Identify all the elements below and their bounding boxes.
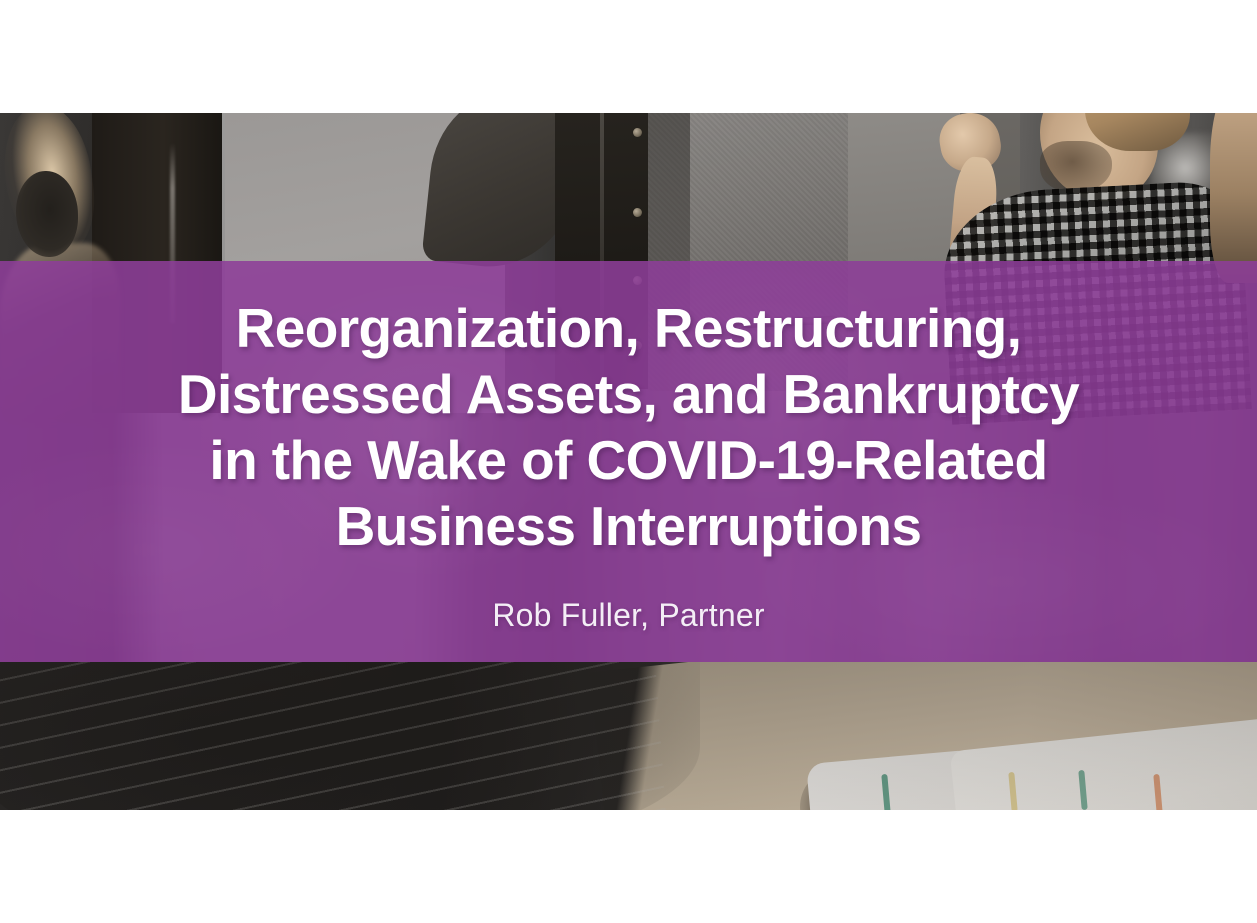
- photo-shirt-button: [633, 128, 642, 137]
- photo-shirt-button: [633, 208, 642, 217]
- photo-lower-grade: [0, 662, 1257, 810]
- title-slide: Reorganization, Restructuring, Distresse…: [0, 0, 1257, 923]
- page-title-line: Reorganization, Restructuring,: [178, 295, 1079, 361]
- photo-figure-left-head: [16, 171, 78, 257]
- photo-figure-far-right: [1210, 113, 1257, 283]
- presenter-name: Rob Fuller, Partner: [492, 595, 764, 635]
- page-title-line: Business Interruptions: [178, 493, 1079, 559]
- photo-lower-scene: [0, 662, 1257, 810]
- page-title: Reorganization, Restructuring, Distresse…: [178, 295, 1079, 559]
- page-title-line: in the Wake of COVID-19-Related: [178, 427, 1079, 493]
- page-title-line: Distressed Assets, and Bankruptcy: [178, 361, 1079, 427]
- title-banner: Reorganization, Restructuring, Distresse…: [0, 261, 1257, 662]
